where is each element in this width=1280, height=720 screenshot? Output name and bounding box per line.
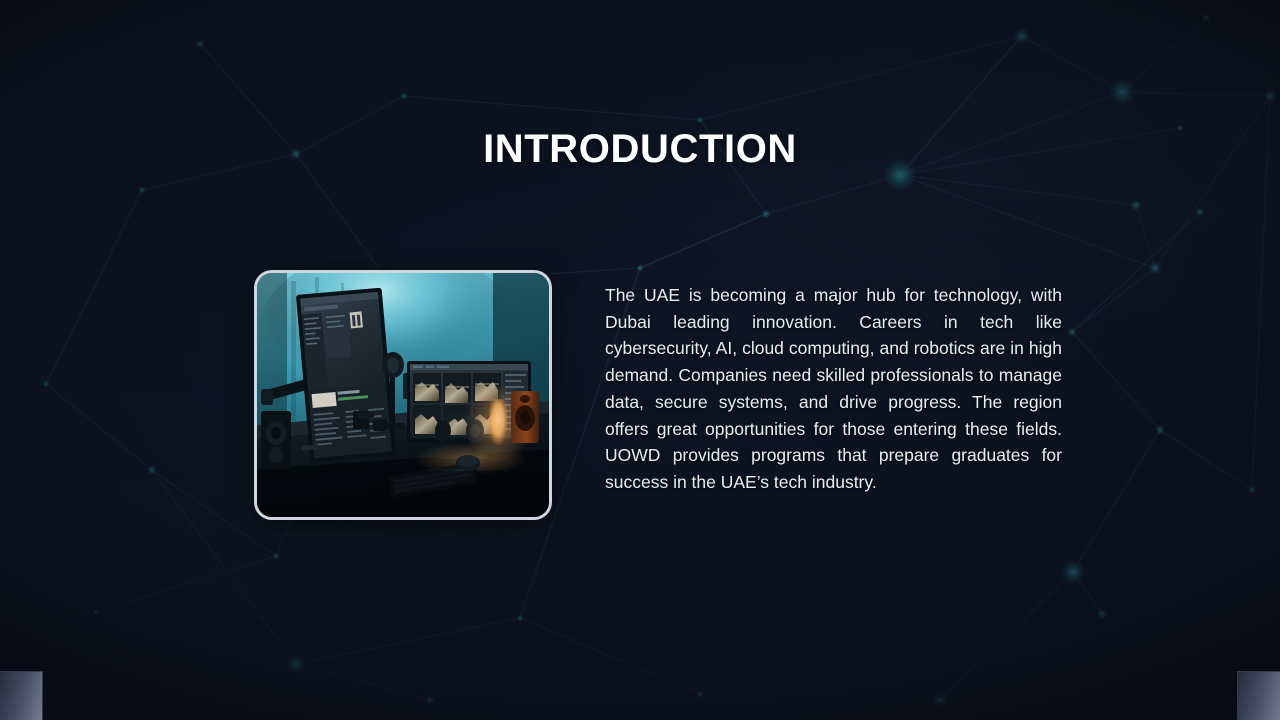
intro-paragraph: The UAE is becoming a major hub for tech… <box>605 282 1062 496</box>
desk-setup-photo <box>254 270 552 520</box>
photo-inner-frame <box>257 273 549 517</box>
page-title: INTRODUCTION <box>0 125 1280 173</box>
desk-setup-illustration <box>257 273 549 517</box>
presentation-slide: INTRODUCTION <box>0 0 1280 720</box>
